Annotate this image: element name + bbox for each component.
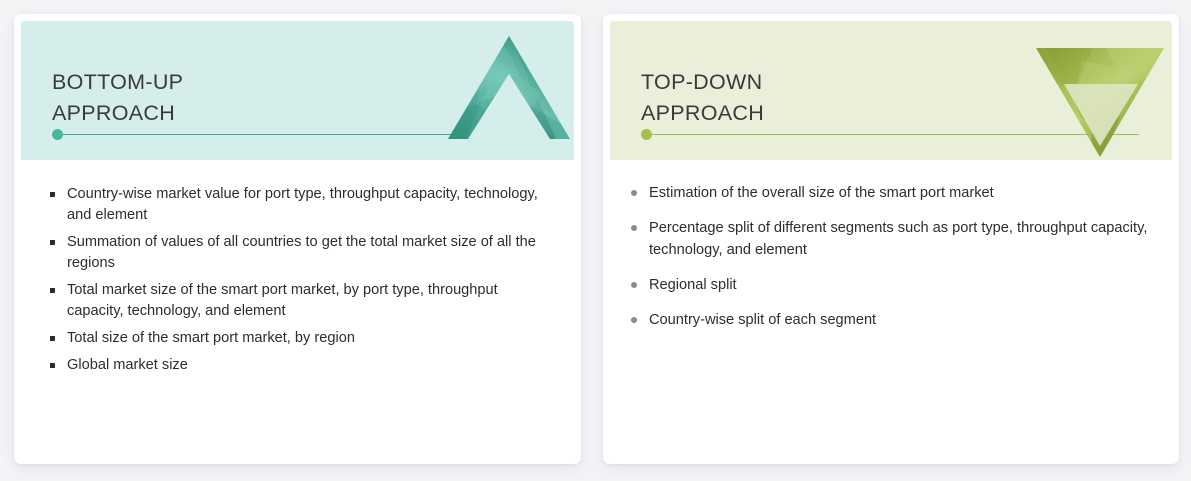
divider-top-down bbox=[641, 128, 1139, 140]
top-down-bullet-list: Estimation of the overall size of the sm… bbox=[615, 182, 1153, 331]
list-item-text: Total size of the smart port market, by … bbox=[67, 330, 355, 346]
divider-line bbox=[652, 134, 1139, 135]
list-item-text: Country-wise market value for port type,… bbox=[67, 186, 538, 223]
list-item: Summation of values of all countries to … bbox=[42, 232, 555, 274]
divider-bottom-up bbox=[52, 128, 562, 140]
disc-bullet-icon bbox=[631, 190, 637, 196]
card-top-down: TOP-DOWN APPROACH bbox=[603, 14, 1179, 464]
square-bullet-icon bbox=[50, 363, 55, 368]
card-body-top-down: Estimation of the overall size of the sm… bbox=[603, 182, 1179, 331]
divider-line bbox=[63, 134, 562, 135]
square-bullet-icon bbox=[50, 192, 55, 197]
approach-comparison-panel: BOTTOM-UP APPROACH bbox=[0, 0, 1191, 481]
list-item: Country-wise market value for port type,… bbox=[42, 184, 555, 226]
list-item: Percentage split of different segments s… bbox=[615, 217, 1153, 261]
list-item-text: Global market size bbox=[67, 357, 188, 373]
disc-bullet-icon bbox=[631, 282, 637, 288]
list-item-text: Summation of values of all countries to … bbox=[67, 234, 536, 271]
card-body-bottom-up: Country-wise market value for port type,… bbox=[14, 184, 581, 376]
list-item-text: Country-wise split of each segment bbox=[649, 312, 876, 328]
card-header-top-down: TOP-DOWN APPROACH bbox=[610, 21, 1172, 160]
disc-bullet-icon bbox=[631, 225, 637, 231]
divider-dot-icon bbox=[52, 129, 63, 140]
list-item: Regional split bbox=[615, 274, 1153, 296]
list-item: Estimation of the overall size of the sm… bbox=[615, 182, 1153, 204]
page-title-top-down: TOP-DOWN APPROACH bbox=[641, 67, 764, 129]
divider-dot-icon bbox=[641, 129, 652, 140]
disc-bullet-icon bbox=[631, 317, 637, 323]
card-header-bottom-up: BOTTOM-UP APPROACH bbox=[21, 21, 574, 160]
square-bullet-icon bbox=[50, 240, 55, 245]
page-title-bottom-up: BOTTOM-UP APPROACH bbox=[52, 67, 183, 129]
list-item: Total market size of the smart port mark… bbox=[42, 280, 555, 322]
list-item-text: Total market size of the smart port mark… bbox=[67, 282, 498, 319]
square-bullet-icon bbox=[50, 288, 55, 293]
list-item: Total size of the smart port market, by … bbox=[42, 328, 555, 349]
list-item-text: Percentage split of different segments s… bbox=[649, 220, 1147, 258]
bottom-up-bullet-list: Country-wise market value for port type,… bbox=[42, 184, 555, 376]
list-item: Global market size bbox=[42, 355, 555, 376]
triangle-up-icon bbox=[446, 34, 572, 140]
square-bullet-icon bbox=[50, 336, 55, 341]
card-bottom-up: BOTTOM-UP APPROACH bbox=[14, 14, 581, 464]
list-item: Country-wise split of each segment bbox=[615, 309, 1153, 331]
triangle-down-icon bbox=[1034, 46, 1166, 159]
list-item-text: Regional split bbox=[649, 277, 737, 293]
list-item-text: Estimation of the overall size of the sm… bbox=[649, 185, 994, 201]
